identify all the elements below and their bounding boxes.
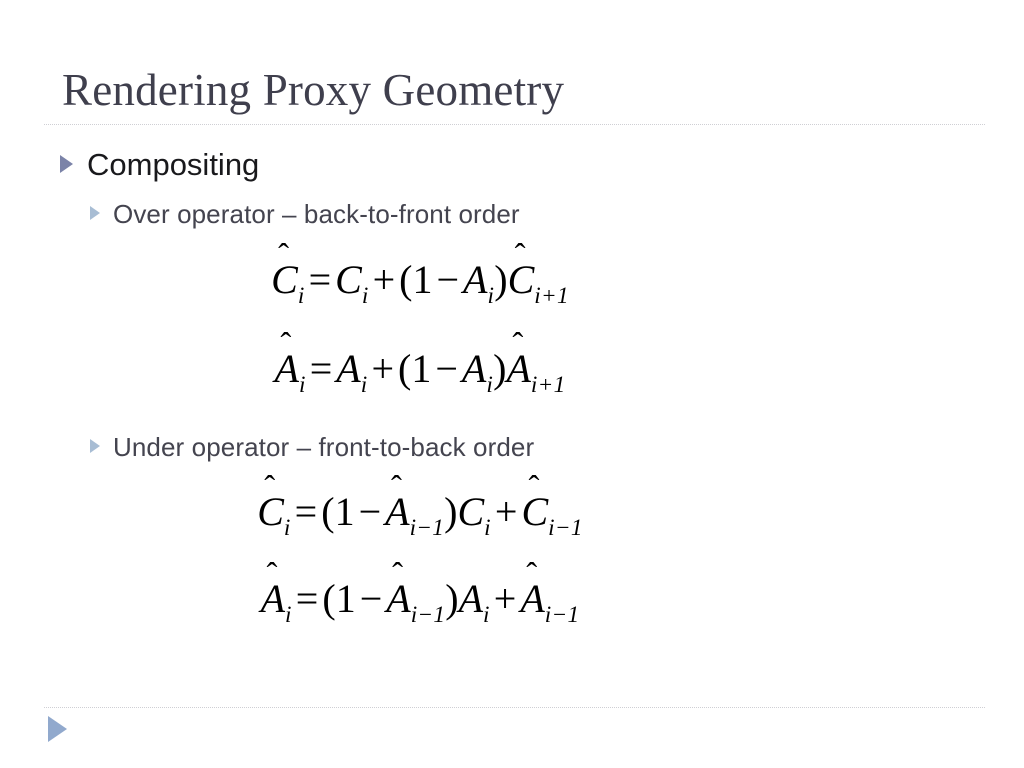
equals-sign: = <box>291 489 322 534</box>
equation-a-over: ˆAi=Ai+(1−Ai)ˆAi+1 <box>0 345 840 392</box>
triangle-bullet-icon <box>60 155 73 173</box>
equals-sign: = <box>306 346 337 391</box>
minus-sign: − <box>355 489 386 534</box>
hatted-variable: ˆC <box>508 256 535 303</box>
page-title: Rendering Proxy Geometry <box>62 62 962 118</box>
hatted-variable: ˆC <box>271 256 298 303</box>
hatted-variable: ˆC <box>521 488 548 535</box>
bullet-item-over-operator: Over operator – back-to-front order <box>90 198 520 230</box>
footer-divider <box>44 707 985 709</box>
bullet-label: Compositing <box>87 146 259 184</box>
hatted-variable: ˆA <box>261 575 285 622</box>
plus-sign: + <box>369 257 400 302</box>
triangle-bullet-icon <box>90 206 100 220</box>
bullet-item-under-operator: Under operator – front-to-back order <box>90 431 534 463</box>
plus-sign: + <box>490 576 521 621</box>
minus-sign: − <box>356 576 387 621</box>
slide: Rendering Proxy Geometry Compositing Ove… <box>0 0 1024 768</box>
minus-sign: − <box>432 257 463 302</box>
triangle-bullet-icon <box>90 439 100 453</box>
equals-sign: = <box>305 257 336 302</box>
hatted-variable: ˆA <box>385 488 409 535</box>
title-divider <box>44 124 985 126</box>
bullet-item-compositing: Compositing <box>60 146 259 184</box>
bullet-label: Over operator – back-to-front order <box>113 198 520 230</box>
hatted-variable: ˆA <box>386 575 410 622</box>
equals-sign: = <box>292 576 323 621</box>
hatted-variable: ˆC <box>257 488 284 535</box>
advance-triangle-icon[interactable] <box>48 716 67 742</box>
hatted-variable: ˆA <box>275 345 299 392</box>
plus-sign: + <box>367 346 398 391</box>
hatted-variable: ˆA <box>520 575 544 622</box>
equation-c-under: ˆCi=(1−ˆAi−1)Ci+ˆCi−1 <box>0 488 840 535</box>
minus-sign: − <box>431 346 462 391</box>
equation-c-over: ˆCi=Ci+(1−Ai)ˆCi+1 <box>0 256 840 303</box>
plus-sign: + <box>491 489 522 534</box>
hatted-variable: ˆA <box>506 345 530 392</box>
bullet-label: Under operator – front-to-back order <box>113 431 534 463</box>
equation-a-under: ˆAi=(1−ˆAi−1)Ai+ˆAi−1 <box>0 575 840 622</box>
